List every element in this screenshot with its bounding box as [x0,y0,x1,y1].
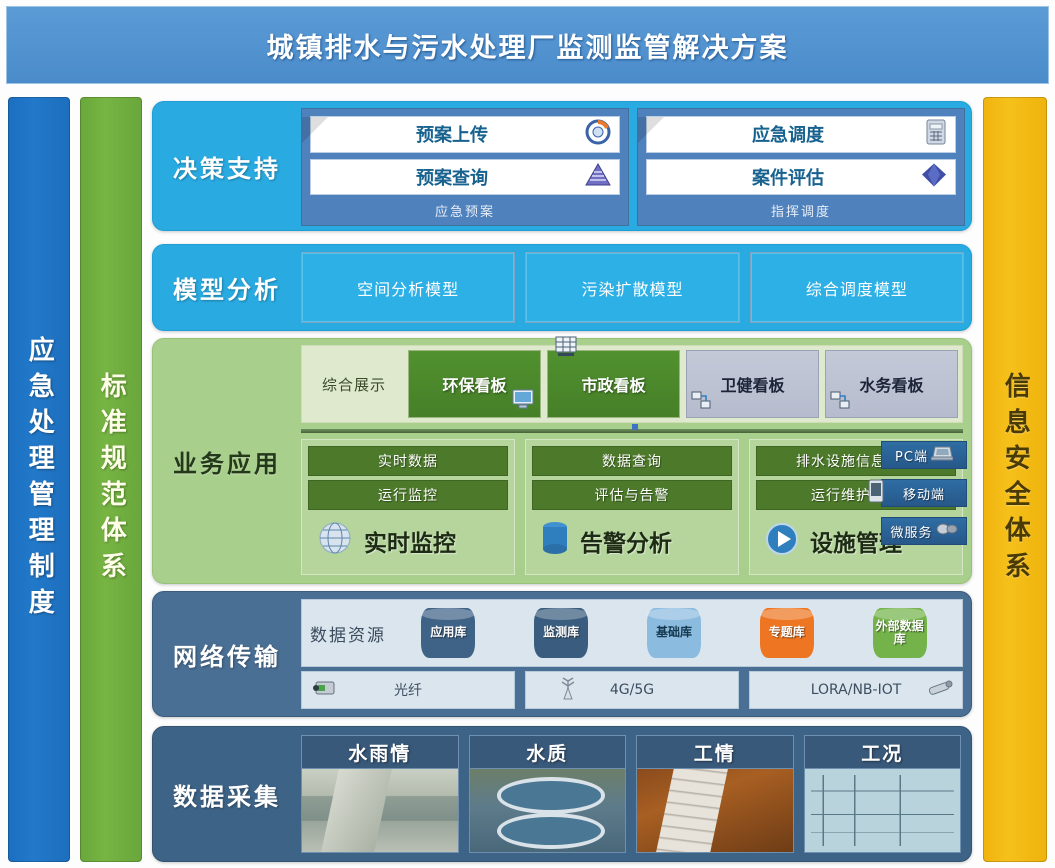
data-card-operating-condition-label: 工况 [804,735,962,769]
layer-model-analysis-label: 模型分析 [153,245,301,330]
data-card-rainfall-label: 水雨情 [301,735,459,769]
business-module-realtime-monitoring-label: 实时监控 [364,524,456,558]
network-inner: 数据资源 应用库 监测库 基础库 专题库 外部数据库 光纤 [301,599,963,709]
client-pc-label: PC端 [895,446,928,465]
pillar-standards-system-label: 标准规范体系 [95,372,128,588]
panel-emergency-plan-caption: 应急预案 [310,201,620,223]
kanban-environment[interactable]: 环保看板 [408,350,541,418]
kanban-health-label: 卫健看板 [720,372,784,396]
transport-lora[interactable]: LORA/NB-IOT [749,671,963,709]
kanban-health[interactable]: 卫健看板 [686,350,819,418]
business-module-alarm-analysis[interactable]: 告警分析 [532,514,732,568]
item-plan-upload-label: 预案上传 [311,121,619,147]
network-icon [691,391,711,413]
device-icon [936,521,958,541]
client-group: PC端 [881,441,967,545]
chip-assessment-alarm[interactable]: 评估与告警 [532,480,732,510]
panel-emergency-plan: 预案上传 预案查询 [301,108,629,226]
model-integrated-dispatch[interactable]: 综合调度模型 [750,252,964,323]
kanban-environment-label: 环保看板 [442,372,506,396]
page-title: 城镇排水与污水处理厂监测监管解决方案 [267,26,789,65]
data-card-water-quality-label: 水质 [469,735,627,769]
model-spatial-analysis[interactable]: 空间分析模型 [301,252,515,323]
solution-architecture-diagram: 城镇排水与污水处理厂监测监管解决方案 应急处理管理制度 标准规范体系 信息安全体… [0,0,1055,868]
database-icon [538,519,572,563]
chip-data-query[interactable]: 数据查询 [532,446,732,476]
pillar-information-security-label: 信息安全体系 [999,372,1032,588]
photo-rainfall [301,769,459,853]
decision-panel-group: 预案上传 预案查询 [301,108,965,226]
kanban-municipal-label: 市政看板 [581,372,645,396]
model-pollution-diffusion[interactable]: 污染扩散模型 [525,252,739,323]
database-foundation[interactable]: 基础库 [647,608,701,658]
fiber-icon [312,679,338,701]
upload-cycle-icon [585,119,611,149]
layer-data-collection: 数据采集 水雨情 水质 工情 工况 [152,726,972,862]
layer-network-transmission-label: 网络传输 [153,592,301,716]
business-module-realtime-monitoring[interactable]: 实时监控 [308,514,508,568]
photo-works-status [636,769,794,853]
client-mobile[interactable]: 移动端 [881,479,967,507]
transport-cellular-label: 4G/5G [610,682,654,698]
antenna-icon [560,676,576,704]
panel-command-dispatch-caption: 指挥调度 [646,201,956,223]
item-case-assessment-label: 案件评估 [647,164,955,190]
business-inner: 综合展示 环保看板 市政看板 [301,345,963,577]
chip-operation-monitoring[interactable]: 运行监控 [308,480,508,510]
business-column-alarm: 数据查询 评估与告警 告警分析 [525,439,739,575]
data-card-water-quality[interactable]: 水质 [469,735,627,853]
item-emergency-dispatch[interactable]: 应急调度 [646,116,956,153]
laptop-icon [931,445,953,465]
layer-model-analysis: 模型分析 空间分析模型 污染扩散模型 综合调度模型 [152,244,972,331]
divider-marker [632,424,638,430]
sensor-icon [926,678,954,702]
database-monitoring[interactable]: 监测库 [534,608,588,658]
database-external[interactable]: 外部数据库 [873,608,927,658]
data-resource-label: 数据资源 [310,621,386,646]
transport-row: 光纤 4G/5G LORA/NB-IOT [301,671,963,709]
business-module-alarm-analysis-label: 告警分析 [580,524,672,558]
item-case-assessment[interactable]: 案件评估 [646,159,956,196]
data-card-group: 水雨情 水质 工情 工况 [301,735,961,853]
network-icon [830,391,850,413]
photo-operating-condition [804,769,962,853]
layer-business-application-label: 业务应用 [153,339,301,583]
showcase-divider [301,429,963,433]
kanban-water-affairs-label: 水务看板 [859,372,923,396]
transport-fiber[interactable]: 光纤 [301,671,515,709]
transport-fiber-label: 光纤 [394,680,422,700]
play-icon [762,519,802,563]
monitor-icon [512,389,534,413]
calculator-icon [925,119,947,149]
layer-decision-support-label: 决策支持 [153,102,301,230]
pillar-standards-system: 标准规范体系 [80,97,142,862]
item-emergency-dispatch-label: 应急调度 [647,121,955,147]
client-microservice[interactable]: 微服务 [881,517,967,545]
data-card-rainfall[interactable]: 水雨情 [301,735,459,853]
data-card-works-status[interactable]: 工情 [636,735,794,853]
business-column-monitoring: 实时数据 运行监控 实时监控 [301,439,515,575]
transport-cellular[interactable]: 4G/5G [525,671,739,709]
layer-business-application: 业务应用 综合展示 环保看板 市政看板 [152,338,972,584]
showcase-row: 综合展示 环保看板 市政看板 [301,345,963,423]
data-card-works-status-label: 工情 [636,735,794,769]
client-microservice-label: 微服务 [890,522,932,541]
pillar-information-security: 信息安全体系 [983,97,1047,862]
client-mobile-label: 移动端 [903,484,945,503]
diagram-title-bar: 城镇排水与污水处理厂监测监管解决方案 [6,6,1049,84]
item-plan-query-label: 预案查询 [311,164,619,190]
pyramid-icon [585,163,611,191]
layer-decision-support: 决策支持 预案上传 预案查询 [152,101,972,231]
item-plan-query[interactable]: 预案查询 [310,159,620,196]
panel-command-dispatch: 应急调度 案件评估 [637,108,965,226]
business-column-group: 实时数据 运行监控 实时监控 数据查询 [301,439,963,575]
transport-lora-label: LORA/NB-IOT [811,682,902,698]
layer-data-collection-label: 数据采集 [153,727,301,861]
data-card-operating-condition[interactable]: 工况 [804,735,962,853]
kanban-municipal[interactable]: 市政看板 [547,350,680,418]
kanban-water-affairs[interactable]: 水务看板 [825,350,958,418]
photo-water-quality [469,769,627,853]
database-thematic[interactable]: 专题库 [760,608,814,658]
layer-network-transmission: 网络传输 数据资源 应用库 监测库 基础库 专题库 外部数据库 [152,591,972,717]
globe-icon [314,518,356,564]
item-plan-upload[interactable]: 预案上传 [310,116,620,153]
chip-realtime-data[interactable]: 实时数据 [308,446,508,476]
pillar-emergency-management-label: 应急处理管理制度 [23,336,56,624]
showcase-label: 综合展示 [306,350,402,418]
phone-icon [868,479,884,507]
model-box-group: 空间分析模型 污染扩散模型 综合调度模型 [301,252,964,323]
diamond-icon [921,162,947,191]
database-application[interactable]: 应用库 [421,608,475,658]
pillar-emergency-management: 应急处理管理制度 [8,97,70,862]
building-icon [554,335,578,361]
client-pc[interactable]: PC端 [881,441,967,469]
data-resource-row: 数据资源 应用库 监测库 基础库 专题库 外部数据库 [301,599,963,667]
